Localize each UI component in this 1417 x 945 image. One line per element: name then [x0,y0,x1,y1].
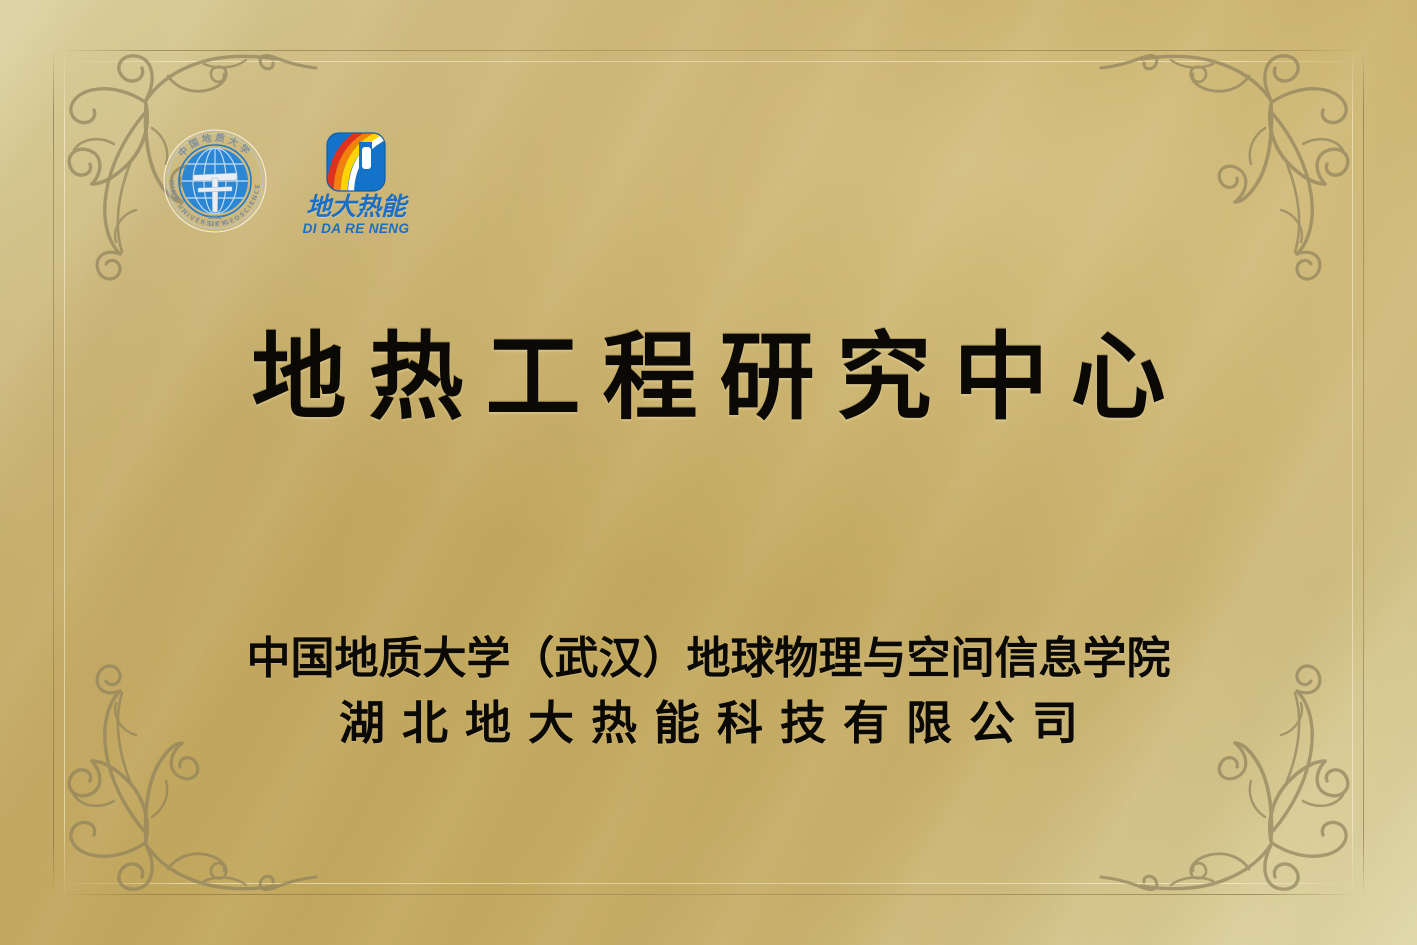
logo-row: 中国地质大学 CHINA UNIVERSITY OF GEOSCIENCES 1… [162,128,420,236]
organization-line-company: 湖北地大热能科技有限公司 [0,695,1417,751]
didareneng-wordmark-cn: 地大热能 [292,194,420,220]
didareneng-logo: 地大热能 DI DA RE NENG [292,128,420,236]
organization-line-university: 中国地质大学（武汉）地球物理与空间信息学院 [0,632,1417,686]
border-rule-bottom [56,894,1361,895]
border-rule-left [53,48,54,897]
border-rule-right-inner [1352,48,1353,897]
cug-emblem-icon: 中国地质大学 CHINA UNIVERSITY OF GEOSCIENCES 1… [162,128,268,234]
award-plaque: 中国地质大学 CHINA UNIVERSITY OF GEOSCIENCES 1… [0,0,1417,945]
didareneng-mark-icon [326,132,386,192]
plaque-main-title: 地热工程研究中心 [0,328,1417,429]
plaque-organization-block: 中国地质大学（武汉）地球物理与空间信息学院 湖北地大热能科技有限公司 [0,632,1417,751]
didareneng-wordmark-en: DI DA RE NENG [292,221,420,236]
border-rule-top [56,50,1361,51]
border-rule-right [1363,48,1364,897]
cug-year: 1952 [208,215,222,221]
corner-flourish-top-right [1099,14,1399,304]
border-rule-bottom-inner [56,883,1361,884]
border-rule-top-inner [56,61,1361,62]
border-rule-left-inner [64,48,65,897]
